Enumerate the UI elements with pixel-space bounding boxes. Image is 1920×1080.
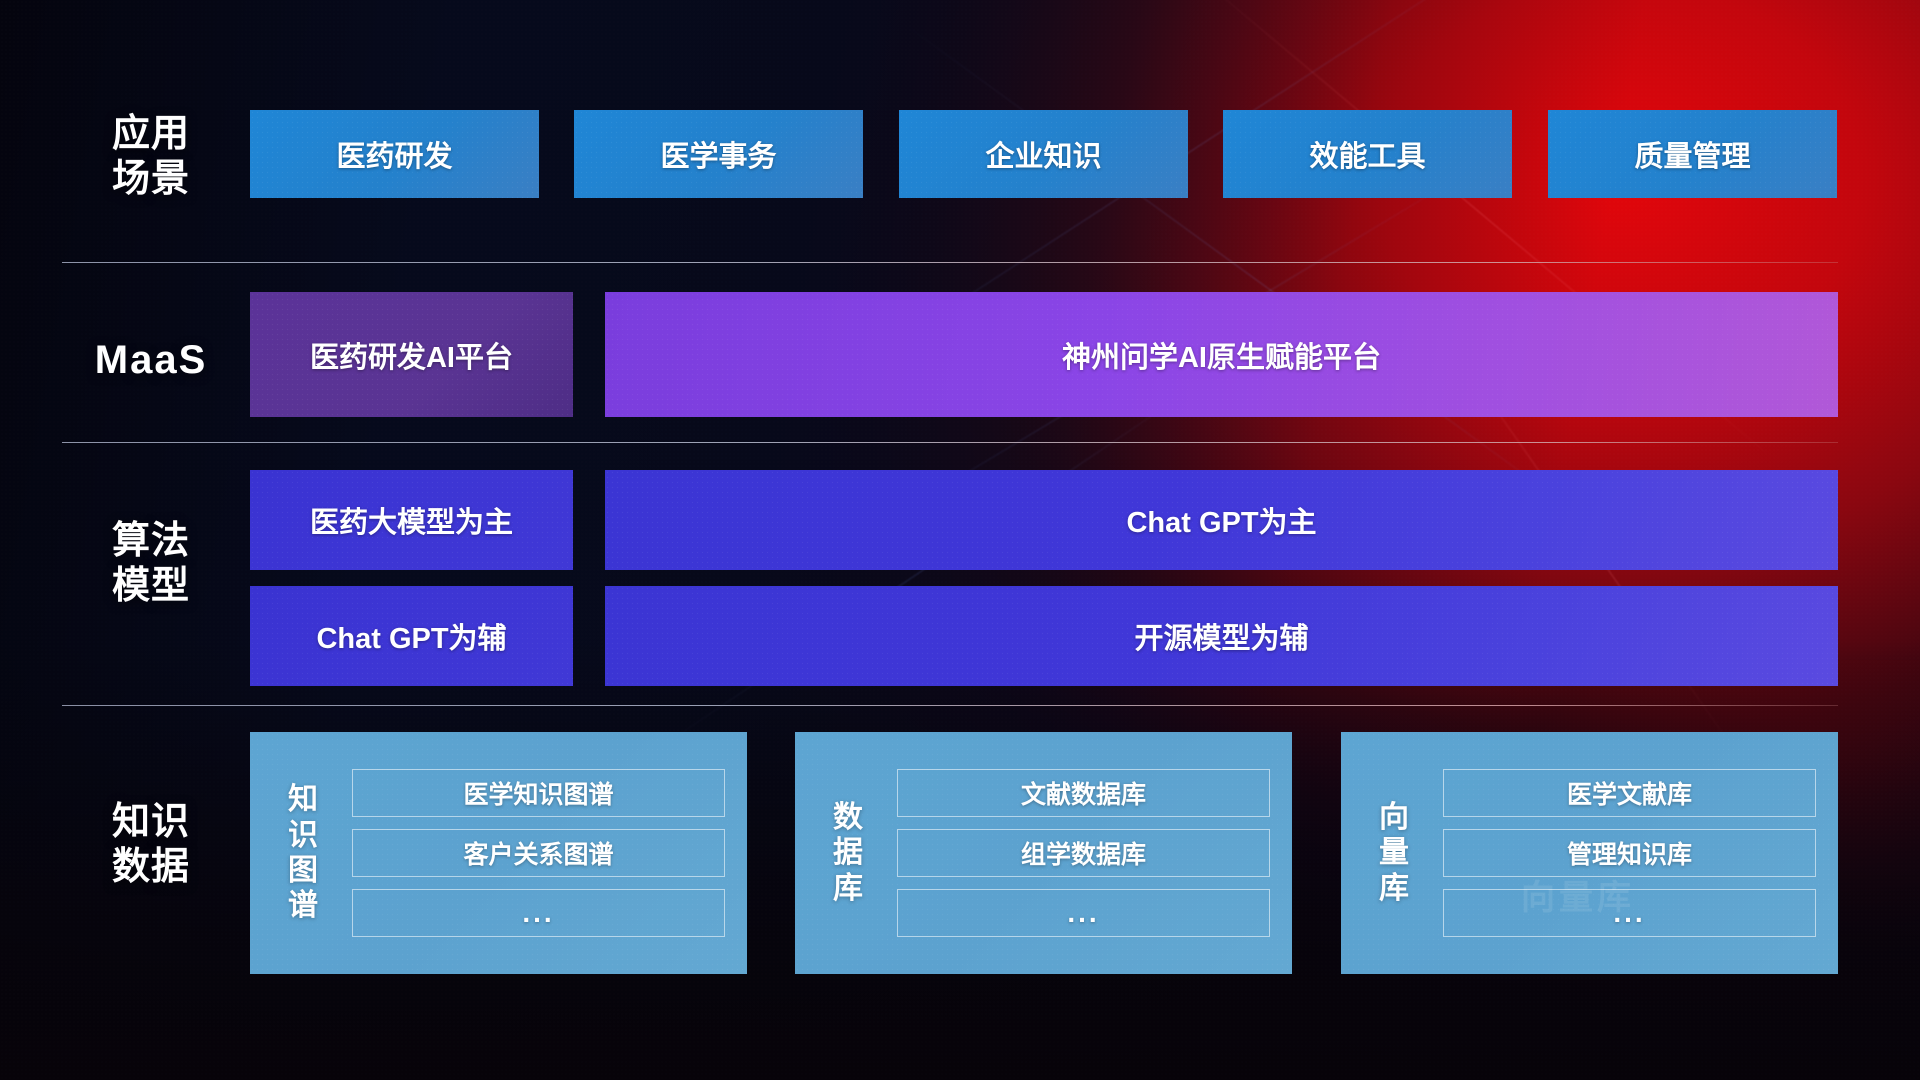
knowledge-item-label: 医学知识图谱 — [463, 775, 613, 811]
knowledge-panel-items: 医学知识图谱 客户关系图谱 ... — [352, 769, 725, 937]
knowledge-item-label: ... — [1067, 897, 1099, 929]
knowledge-panel-vector-store[interactable]: 向 量 库 医学文献库 管理知识库 ... 向量库 — [1341, 732, 1838, 974]
app-box-label: 医学事务 — [660, 133, 776, 175]
algo-box-chatgpt-secondary[interactable]: Chat GPT为辅 — [250, 586, 573, 686]
knowledge-item[interactable]: 组学数据库 — [897, 829, 1270, 877]
knowledge-item[interactable]: 文献数据库 — [897, 769, 1270, 817]
row-label-knowledge: 知识 数据 — [60, 800, 242, 890]
panel-title-char: 量 — [1363, 835, 1425, 870]
row-label-application: 应用 场景 — [60, 112, 242, 202]
app-box-drug-rd[interactable]: 医药研发 — [250, 110, 539, 198]
knowledge-panel-items: 医学文献库 管理知识库 ... — [1443, 769, 1816, 937]
algo-box-label: Chat GPT为主 — [1126, 499, 1316, 541]
row-label-maas: MaaS — [60, 337, 242, 384]
maas-box-label: 医药研发AI平台 — [310, 334, 513, 376]
maas-box-drug-ai-platform[interactable]: 医药研发AI平台 — [250, 292, 573, 417]
panel-title-char: 谱 — [272, 888, 334, 923]
knowledge-item[interactable]: 管理知识库 — [1443, 829, 1816, 877]
panel-title-char: 库 — [817, 871, 879, 906]
app-box-enterprise-knowledge[interactable]: 企业知识 — [899, 110, 1188, 198]
divider-algorithm-knowledge — [62, 705, 1838, 706]
algo-box-label: 开源模型为辅 — [1134, 615, 1308, 657]
row-label-line: MaaS — [60, 337, 242, 384]
knowledge-item-more[interactable]: ... — [897, 889, 1270, 937]
maas-box-label: 神州问学AI原生赋能平台 — [1062, 334, 1381, 376]
panel-title-char: 向 — [1363, 800, 1425, 835]
knowledge-panel-title: 数 据 库 — [817, 800, 879, 906]
knowledge-panel-database[interactable]: 数 据 库 文献数据库 组学数据库 ... — [795, 732, 1292, 974]
panel-title-char: 数 — [817, 800, 879, 835]
divider-maas-algorithm — [62, 442, 1838, 443]
knowledge-panel-title: 知 识 图 谱 — [272, 782, 334, 924]
panel-title-char: 知 — [272, 782, 334, 817]
row-label-line: 数据 — [60, 845, 242, 890]
app-box-label: 医药研发 — [336, 133, 452, 175]
panel-title-char: 库 — [1363, 871, 1425, 906]
panel-title-char: 据 — [817, 835, 879, 870]
maas-box-shenzhou-platform[interactable]: 神州问学AI原生赋能平台 — [605, 292, 1838, 417]
app-box-quality-management[interactable]: 质量管理 — [1548, 110, 1837, 198]
knowledge-item-label: ... — [1613, 897, 1645, 929]
knowledge-panel-title: 向 量 库 — [1363, 800, 1425, 906]
algo-box-label: 医药大模型为主 — [310, 499, 513, 541]
row-label-line: 场景 — [60, 157, 242, 202]
knowledge-item[interactable]: 医学文献库 — [1443, 769, 1816, 817]
knowledge-item-more[interactable]: ... — [352, 889, 725, 937]
algo-box-opensource-secondary[interactable]: 开源模型为辅 — [605, 586, 1838, 686]
row-label-line: 模型 — [60, 564, 242, 609]
knowledge-item-label: 文献数据库 — [1021, 775, 1146, 811]
knowledge-item[interactable]: 客户关系图谱 — [352, 829, 725, 877]
algo-box-chatgpt-primary[interactable]: Chat GPT为主 — [605, 470, 1838, 570]
panel-title-char: 图 — [272, 853, 334, 888]
app-box-label: 质量管理 — [1634, 133, 1750, 175]
architecture-diagram: 应用 场景 医药研发 医学事务 企业知识 效能工具 质量管理 MaaS 医药研发… — [0, 0, 1920, 1080]
knowledge-panel-items: 文献数据库 组学数据库 ... — [897, 769, 1270, 937]
knowledge-item-label: 医学文献库 — [1567, 775, 1692, 811]
panel-title-char: 识 — [272, 818, 334, 853]
knowledge-item-label: 管理知识库 — [1567, 835, 1692, 871]
app-box-efficiency-tools[interactable]: 效能工具 — [1223, 110, 1512, 198]
knowledge-item-more[interactable]: ... — [1443, 889, 1816, 937]
row-label-algorithm: 算法 模型 — [60, 519, 242, 609]
knowledge-item[interactable]: 医学知识图谱 — [352, 769, 725, 817]
row-label-line: 算法 — [60, 519, 242, 564]
knowledge-panel-knowledge-graph[interactable]: 知 识 图 谱 医学知识图谱 客户关系图谱 ... — [250, 732, 747, 974]
divider-application-maas — [62, 262, 1838, 263]
row-label-line: 知识 — [60, 800, 242, 845]
app-box-label: 效能工具 — [1309, 133, 1425, 175]
algo-box-drug-llm-primary[interactable]: 医药大模型为主 — [250, 470, 573, 570]
app-box-label: 企业知识 — [985, 133, 1101, 175]
knowledge-item-label: ... — [522, 897, 554, 929]
knowledge-item-label: 客户关系图谱 — [463, 835, 613, 871]
knowledge-item-label: 组学数据库 — [1021, 835, 1146, 871]
algo-box-label: Chat GPT为辅 — [316, 615, 506, 657]
app-box-medical-affairs[interactable]: 医学事务 — [574, 110, 863, 198]
row-label-line: 应用 — [60, 112, 242, 157]
